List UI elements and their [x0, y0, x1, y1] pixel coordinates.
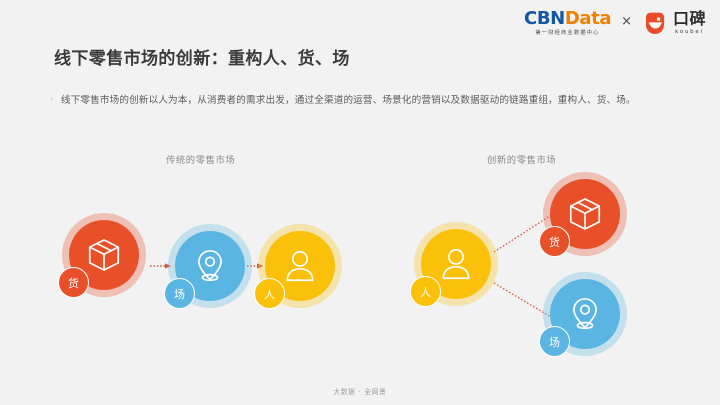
- bullet-marker-icon: ·: [50, 92, 53, 108]
- person-icon: [437, 245, 475, 283]
- footer-watermark: 大数据 · 全网景: [0, 386, 720, 396]
- node-label-chip: 场: [539, 326, 570, 357]
- node-right-ren[interactable]: 人: [414, 222, 498, 306]
- node-left-huo[interactable]: 货: [62, 213, 146, 297]
- location-icon: [566, 295, 604, 333]
- cbndata-logo: CBNData 第一财经商业数据中心: [524, 10, 611, 36]
- cbndata-word-primary: CBN: [524, 8, 565, 29]
- node-label-chip: 场: [164, 278, 195, 309]
- box-icon: [566, 195, 604, 233]
- node-label-chip: 人: [410, 276, 441, 307]
- node-right-chang[interactable]: 场: [543, 272, 627, 356]
- caption-traditional-market: 传统的零售市场: [166, 152, 235, 166]
- node-left-ren[interactable]: 人: [258, 224, 342, 308]
- node-label-chip: 人: [254, 278, 285, 309]
- brand-logo-bar: CBNData 第一财经商业数据中心 × 口碑 koubei: [524, 10, 706, 36]
- caption-innovative-market: 创新的零售市场: [487, 152, 556, 166]
- page-title: 线下零售市场的创新：重构人、货、场: [54, 44, 350, 69]
- node-right-huo[interactable]: 货: [543, 172, 627, 256]
- bullet-text: 线下零售市场的创新以人为本，从消费者的需求出发，通过全渠道的运营、场景化的营销以…: [61, 92, 636, 109]
- koubei-name-en: koubei: [673, 30, 706, 35]
- cbndata-subtitle: 第一财经商业数据中心: [535, 31, 599, 36]
- location-icon: [191, 247, 229, 285]
- koubei-wordmark: 口碑 koubei: [673, 11, 706, 35]
- slide-canvas: CBNData 第一财经商业数据中心 × 口碑 koubei 线下零售市场的创新…: [0, 0, 720, 405]
- node-label-chip: 货: [539, 226, 570, 257]
- node-left-chang[interactable]: 场: [168, 224, 252, 308]
- logo-separator-icon: ×: [620, 14, 633, 29]
- cbndata-word-secondary: Data: [565, 8, 611, 29]
- koubei-logo: 口碑 koubei: [642, 10, 706, 36]
- cbndata-wordmark: CBNData: [524, 10, 611, 28]
- box-icon: [85, 236, 123, 274]
- person-icon: [281, 247, 319, 285]
- node-label-chip: 货: [58, 267, 89, 298]
- koubei-smile-icon: [642, 10, 668, 36]
- koubei-name-cn: 口碑: [673, 11, 706, 27]
- bullet-paragraph: · 线下零售市场的创新以人为本，从消费者的需求出发，通过全渠道的运营、场景化的营…: [50, 92, 675, 109]
